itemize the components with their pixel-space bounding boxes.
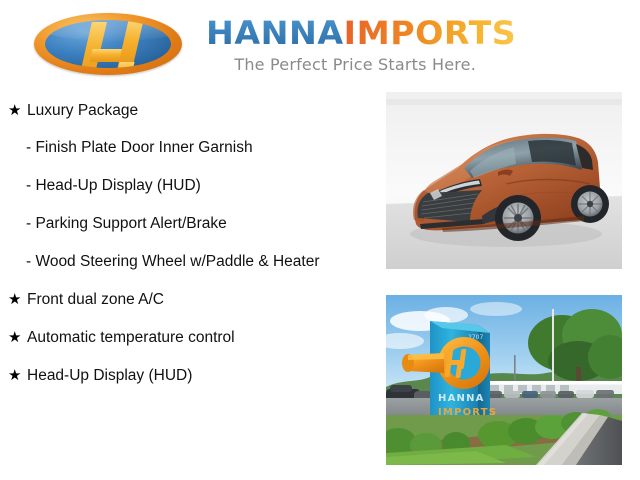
list-item: - Finish Plate Door Inner Garnish: [8, 130, 368, 168]
vehicle-photo-graphic: [386, 92, 622, 269]
star-icon: ★: [8, 367, 27, 385]
feature-label: - Wood Steering Wheel w/Paddle & Heater: [26, 253, 368, 272]
svg-text:HANNA: HANNA: [438, 393, 485, 404]
feature-label: Front dual zone A/C: [27, 291, 368, 310]
logo-gloss-highlight: [45, 20, 171, 41]
dealership-photo-graphic: 2707 HANNA IMPORTS: [386, 295, 622, 465]
brand-tagline: The Perfect Price Starts Here.: [206, 55, 504, 74]
list-item: - Wood Steering Wheel w/Paddle & Heater: [8, 244, 368, 282]
dealer-branding-header: HANNAIMPORTS The Perfect Price Starts He…: [0, 0, 640, 88]
hanna-oval-h-logo-icon: [34, 9, 182, 79]
brand-word-imports: IMPORTS: [344, 14, 517, 52]
list-item: ★ Luxury Package: [8, 92, 368, 130]
list-item: ★ Head-Up Display (HUD): [8, 357, 368, 395]
brand-wordmark: HANNAIMPORTS: [206, 17, 516, 49]
vehicle-feature-listing-page: HANNAIMPORTS The Perfect Price Starts He…: [0, 0, 640, 480]
star-icon: ★: [8, 102, 27, 120]
vehicle-photo[interactable]: [386, 92, 622, 269]
feature-label: - Head-Up Display (HUD): [26, 177, 368, 196]
star-icon: ★: [8, 291, 27, 309]
feature-label: Luxury Package: [27, 102, 368, 121]
feature-label: - Finish Plate Door Inner Garnish: [26, 139, 368, 158]
list-item: - Parking Support Alert/Brake: [8, 206, 368, 244]
list-item: ★ Front dual zone A/C: [8, 282, 368, 320]
feature-label: Automatic temperature control: [27, 329, 368, 348]
list-item: ★ Automatic temperature control: [8, 319, 368, 357]
dealership-photo[interactable]: 2707 HANNA IMPORTS: [386, 295, 622, 465]
logo-inner-disc: [45, 20, 171, 68]
feature-list: ★ Luxury Package - Finish Plate Door Inn…: [8, 92, 368, 395]
star-icon: ★: [8, 329, 27, 347]
feature-label: Head-Up Display (HUD): [27, 367, 368, 386]
brand-word-hanna: HANNA: [206, 14, 344, 52]
feature-label: - Parking Support Alert/Brake: [26, 215, 368, 234]
brand-text-block: HANNAIMPORTS The Perfect Price Starts He…: [206, 15, 504, 74]
list-item: - Head-Up Display (HUD): [8, 168, 368, 206]
